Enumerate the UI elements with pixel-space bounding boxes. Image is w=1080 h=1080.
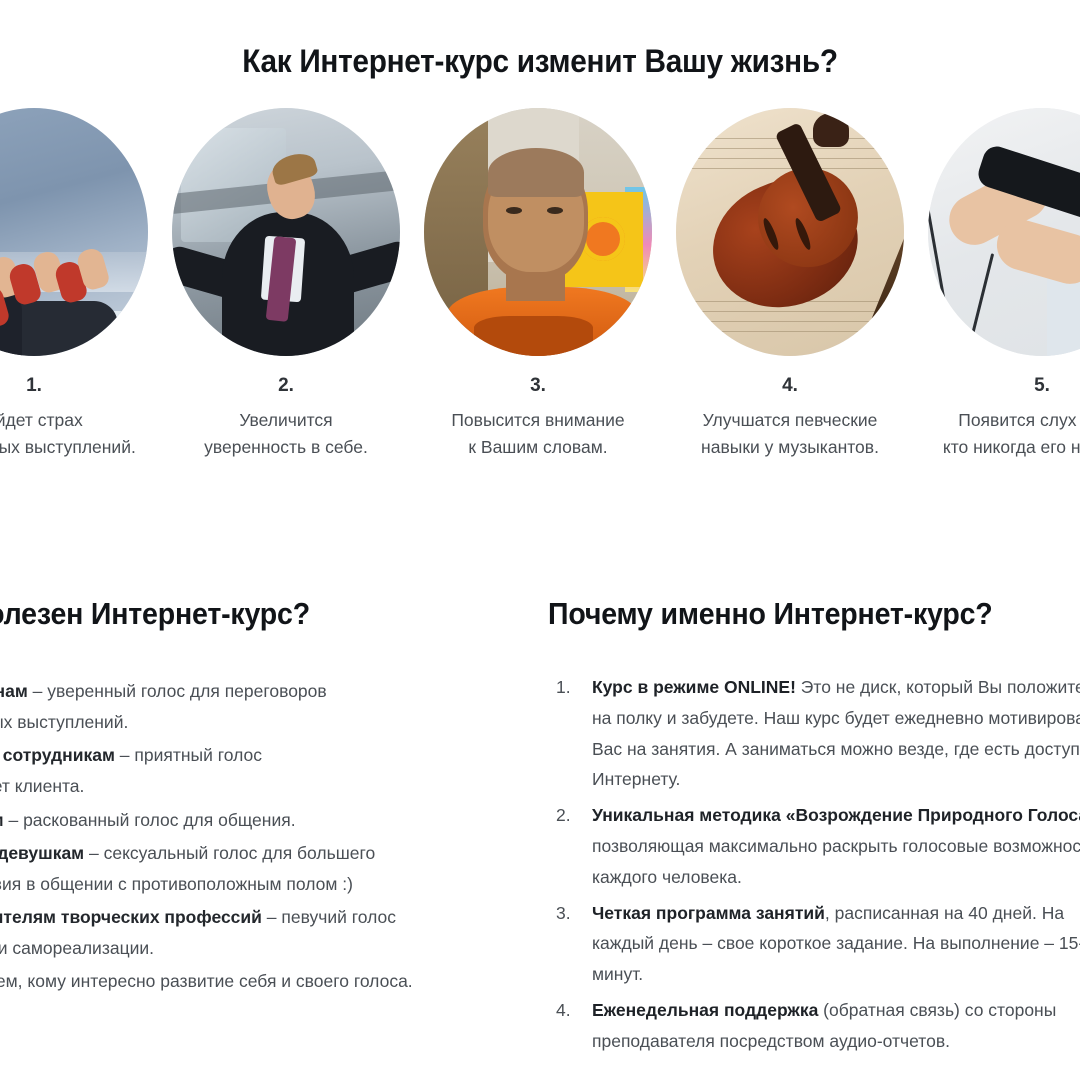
audience-rest-1: – уверенный голос для переговоров	[28, 681, 327, 701]
audience-lead-4: Парням и девушкам	[0, 843, 84, 863]
reason-line: Уникальная методика «Возрождение Природн…	[592, 800, 1080, 831]
benefit-number-5: 5.	[1034, 376, 1050, 395]
reason-3-line-0: , расписанная на 40 дней. На	[825, 903, 1064, 923]
reason-lead-4: Еженедельная поддержка	[592, 1000, 818, 1020]
benefit-caption-line-3a: Повысится внимание	[451, 410, 624, 430]
reason-line: Курс в режиме ONLINE! Это не диск, котор…	[592, 672, 1080, 703]
reason-1-line-0: Это не диск, который Вы положите	[796, 677, 1080, 697]
reason-2-line-1: позволяющая максимально раскрыть голосов…	[592, 831, 1080, 862]
benefit-caption-3: Повысится внимание к Вашим словам.	[420, 407, 656, 460]
benefit-number-3: 3.	[530, 376, 546, 395]
list-item: Курс в режиме ONLINE! Это не диск, котор…	[548, 672, 1080, 795]
reason-1-line-2: Вас на занятия. А заниматься можно везде…	[592, 734, 1080, 765]
reason-4-line-1: преподавателя посредством аудио-отчетов.	[592, 1026, 1080, 1057]
benefit-number-4: 4.	[782, 376, 798, 395]
buddhist-monk-photo	[424, 108, 652, 356]
violin-on-sheet-music-photo	[676, 108, 904, 356]
benefit-caption-2: Увеличится уверенность в себе.	[168, 407, 404, 460]
benefit-caption-line-1a: Уйдет страх	[0, 410, 83, 430]
right-column: Почему именно Интернет-курс? Курс в режи…	[486, 596, 1080, 1062]
man-with-open-arms-photo	[172, 108, 400, 356]
benefit-caption-line-4a: Улучшатся певческие	[703, 410, 878, 430]
audience-line2-2: располагает клиента.	[0, 776, 84, 796]
reason-line: Еженедельная поддержка (обратная связь) …	[592, 995, 1080, 1026]
benefit-caption-line-5b: кто никогда его не имел.	[943, 437, 1080, 457]
benefit-card-3: 3. Повысится внимание к Вашим словам.	[412, 108, 664, 460]
audience-rest-2: – приятный голос	[115, 745, 262, 765]
benefit-number-1: 1.	[26, 376, 42, 395]
list-item: Уникальная методика «Возрождение Природн…	[548, 800, 1080, 892]
benefit-image-2	[172, 108, 400, 356]
benefit-card-1: 1. Уйдет страх публичных выступлений.	[0, 108, 160, 460]
benefit-caption-line-2a: Увеличится	[239, 410, 332, 430]
benefit-card-4: 4. Улучшатся певческие навыки у музыкант…	[664, 108, 916, 460]
reason-3-line-1: каждый день – свое короткое задание. На …	[592, 928, 1080, 959]
singer-with-microphone-photo	[928, 108, 1080, 356]
right-column-heading: Почему именно Интернет-курс?	[548, 596, 1037, 632]
left-column-heading: Кому полезен Интернет-курс?	[0, 596, 438, 632]
audience-line2-1: и публичных выступлений.	[0, 712, 128, 732]
reason-lead-1: Курс в режиме ONLINE!	[592, 677, 796, 697]
benefit-card-2: 2. Увеличится уверенность в себе.	[160, 108, 412, 460]
list-item: Студентам – раскованный голос для общени…	[0, 805, 486, 836]
benefits-strip: 1. Уйдет страх публичных выступлений. 2.…	[0, 108, 1080, 460]
benefit-image-5	[928, 108, 1080, 356]
benefit-image-1	[0, 108, 148, 356]
page-title: Как Интернет-курс изменит Вашу жизнь?	[38, 43, 1042, 80]
applauding-audience-photo	[0, 108, 148, 356]
reason-1-line-1: на полку и забудете. Наш курс будет ежед…	[592, 703, 1080, 734]
reason-3-line-2: минут.	[592, 959, 1080, 990]
benefit-image-4	[676, 108, 904, 356]
benefit-number-2: 2.	[278, 376, 294, 395]
reason-lead-3: Четкая программа занятий	[592, 903, 825, 923]
benefit-caption-4: Улучшатся певческие навыки у музыкантов.	[672, 407, 908, 460]
two-column-section: Кому полезен Интернет-курс? Бизнесменам …	[0, 596, 1080, 1062]
audience-list: Бизнесменам – уверенный голос для перего…	[0, 676, 486, 997]
audience-lead-2: Офисным сотрудникам	[0, 745, 115, 765]
audience-rest-5: – певучий голос	[262, 907, 396, 927]
reason-4-line-0: (обратная связь) со стороны	[818, 1000, 1056, 1020]
reason-lead-2: Уникальная методика «Возрождение Природн…	[592, 805, 1080, 825]
benefit-caption-line-4b: навыки у музыкантов.	[701, 437, 879, 457]
benefit-image-3	[424, 108, 652, 356]
benefit-caption-1: Уйдет страх публичных выступлений.	[0, 407, 152, 460]
audience-line2-5: для пения и самореализации.	[0, 938, 154, 958]
list-item: Еженедельная поддержка (обратная связь) …	[548, 995, 1080, 1057]
audience-rest-3: – раскованный голос для общения.	[4, 810, 296, 830]
audience-rest-4: – сексуальный голос для большего	[84, 843, 375, 863]
benefit-card-5: 5. Появится слух у тех, кто никогда его …	[916, 108, 1080, 460]
reason-1-line-3: Интернету.	[592, 764, 1080, 795]
reason-line: Четкая программа занятий, расписанная на…	[592, 898, 1080, 929]
audience-line2-4: удовольствия в общении с противоположным…	[0, 874, 353, 894]
benefit-caption-5: Появится слух у тех, кто никогда его не …	[924, 407, 1080, 460]
left-column: Кому полезен Интернет-курс? Бизнесменам …	[0, 596, 486, 1062]
benefit-caption-line-1b: публичных выступлений.	[0, 437, 136, 457]
list-item: Бизнесменам – уверенный голос для перего…	[0, 676, 486, 738]
benefit-caption-line-3b: к Вашим словам.	[468, 437, 607, 457]
benefit-caption-line-2b: уверенность в себе.	[204, 437, 368, 457]
list-item: Парням и девушкам – сексуальный голос дл…	[0, 838, 486, 900]
list-item: А также всем, кому интересно развитие се…	[0, 966, 486, 997]
list-item: Представителям творческих профессий – пе…	[0, 902, 486, 964]
audience-lead-5: Представителям творческих профессий	[0, 907, 262, 927]
reason-2-line-2: каждого человека.	[592, 862, 1080, 893]
reasons-list: Курс в режиме ONLINE! Это не диск, котор…	[548, 672, 1080, 1057]
list-item: Офисным сотрудникам – приятный голос рас…	[0, 740, 486, 802]
audience-lead-1: Бизнесменам	[0, 681, 28, 701]
benefit-caption-line-5a: Появится слух у тех,	[958, 410, 1080, 430]
audience-rest-6: А также всем, кому интересно развитие се…	[0, 971, 413, 991]
list-item: Четкая программа занятий, расписанная на…	[548, 898, 1080, 990]
